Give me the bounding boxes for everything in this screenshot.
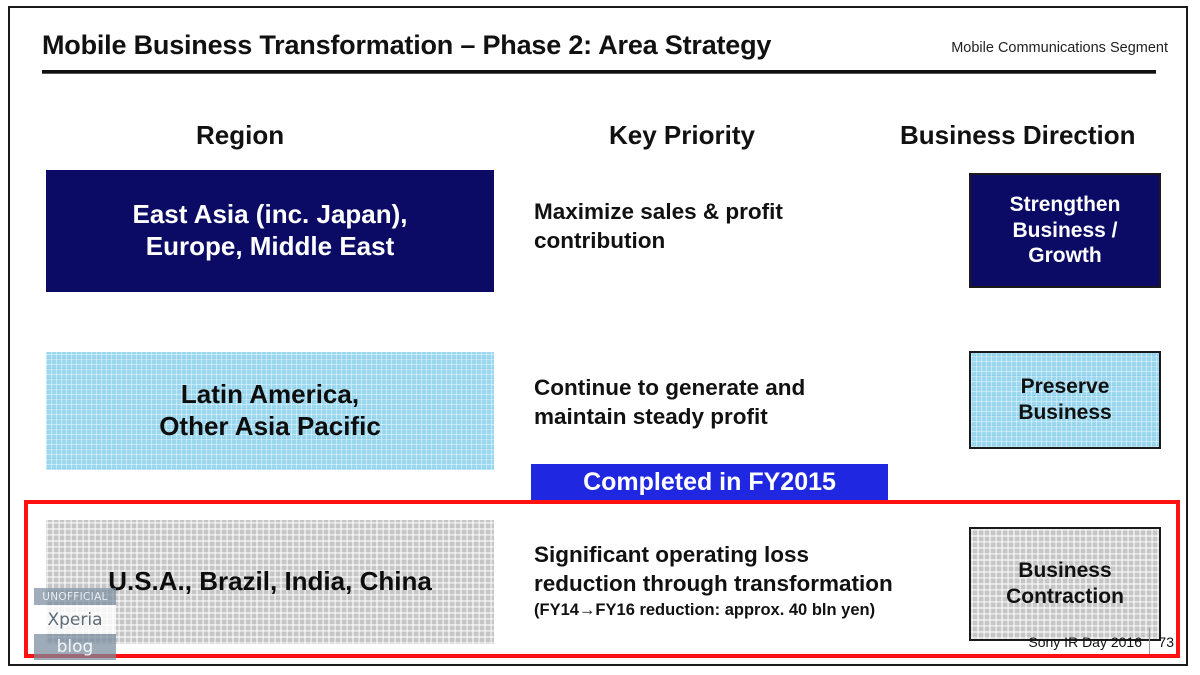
title-divider [42, 70, 1156, 74]
key-priority-note-3: (FY14→FY16 reduction: approx. 40 bln yen… [534, 600, 964, 621]
slide-canvas: Mobile Business Transformation – Phase 2… [8, 6, 1188, 666]
column-header-region: Region [196, 120, 284, 151]
key-priority-text-2: Continue to generate andmaintain steady … [534, 374, 964, 432]
direction-box-business-contraction: BusinessContraction [969, 527, 1161, 641]
footer-source: Sony IR Day 2016 [1028, 634, 1142, 650]
completed-banner: Completed in FY2015 [531, 464, 888, 500]
column-header-key-priority: Key Priority [609, 120, 755, 151]
key-priority-text-1: Maximize sales & profitcontribution [534, 198, 964, 256]
key-priority-main-3: Significant operating lossreduction thro… [534, 542, 893, 596]
page-title: Mobile Business Transformation – Phase 2… [42, 30, 771, 61]
watermark-line-unofficial: UNOFFICIAL [34, 588, 116, 605]
direction-box-preserve-business: PreserveBusiness [969, 351, 1161, 449]
page-number: 73 [1158, 634, 1174, 650]
watermark: UNOFFICIAL Xperia blog [34, 588, 116, 660]
watermark-line-blog: blog [34, 634, 116, 660]
direction-box-strengthen-growth: StrengthenBusiness /Growth [969, 173, 1161, 288]
column-header-business-direction: Business Direction [900, 120, 1136, 151]
key-priority-text-3: Significant operating lossreduction thro… [534, 541, 964, 620]
footer-divider [1149, 628, 1150, 654]
region-box-latin-america: Latin America,Other Asia Pacific [46, 352, 494, 470]
region-box-east-asia: East Asia (inc. Japan),Europe, Middle Ea… [46, 170, 494, 292]
segment-label: Mobile Communications Segment [951, 40, 1168, 56]
watermark-line-xperia: Xperia [34, 605, 116, 634]
